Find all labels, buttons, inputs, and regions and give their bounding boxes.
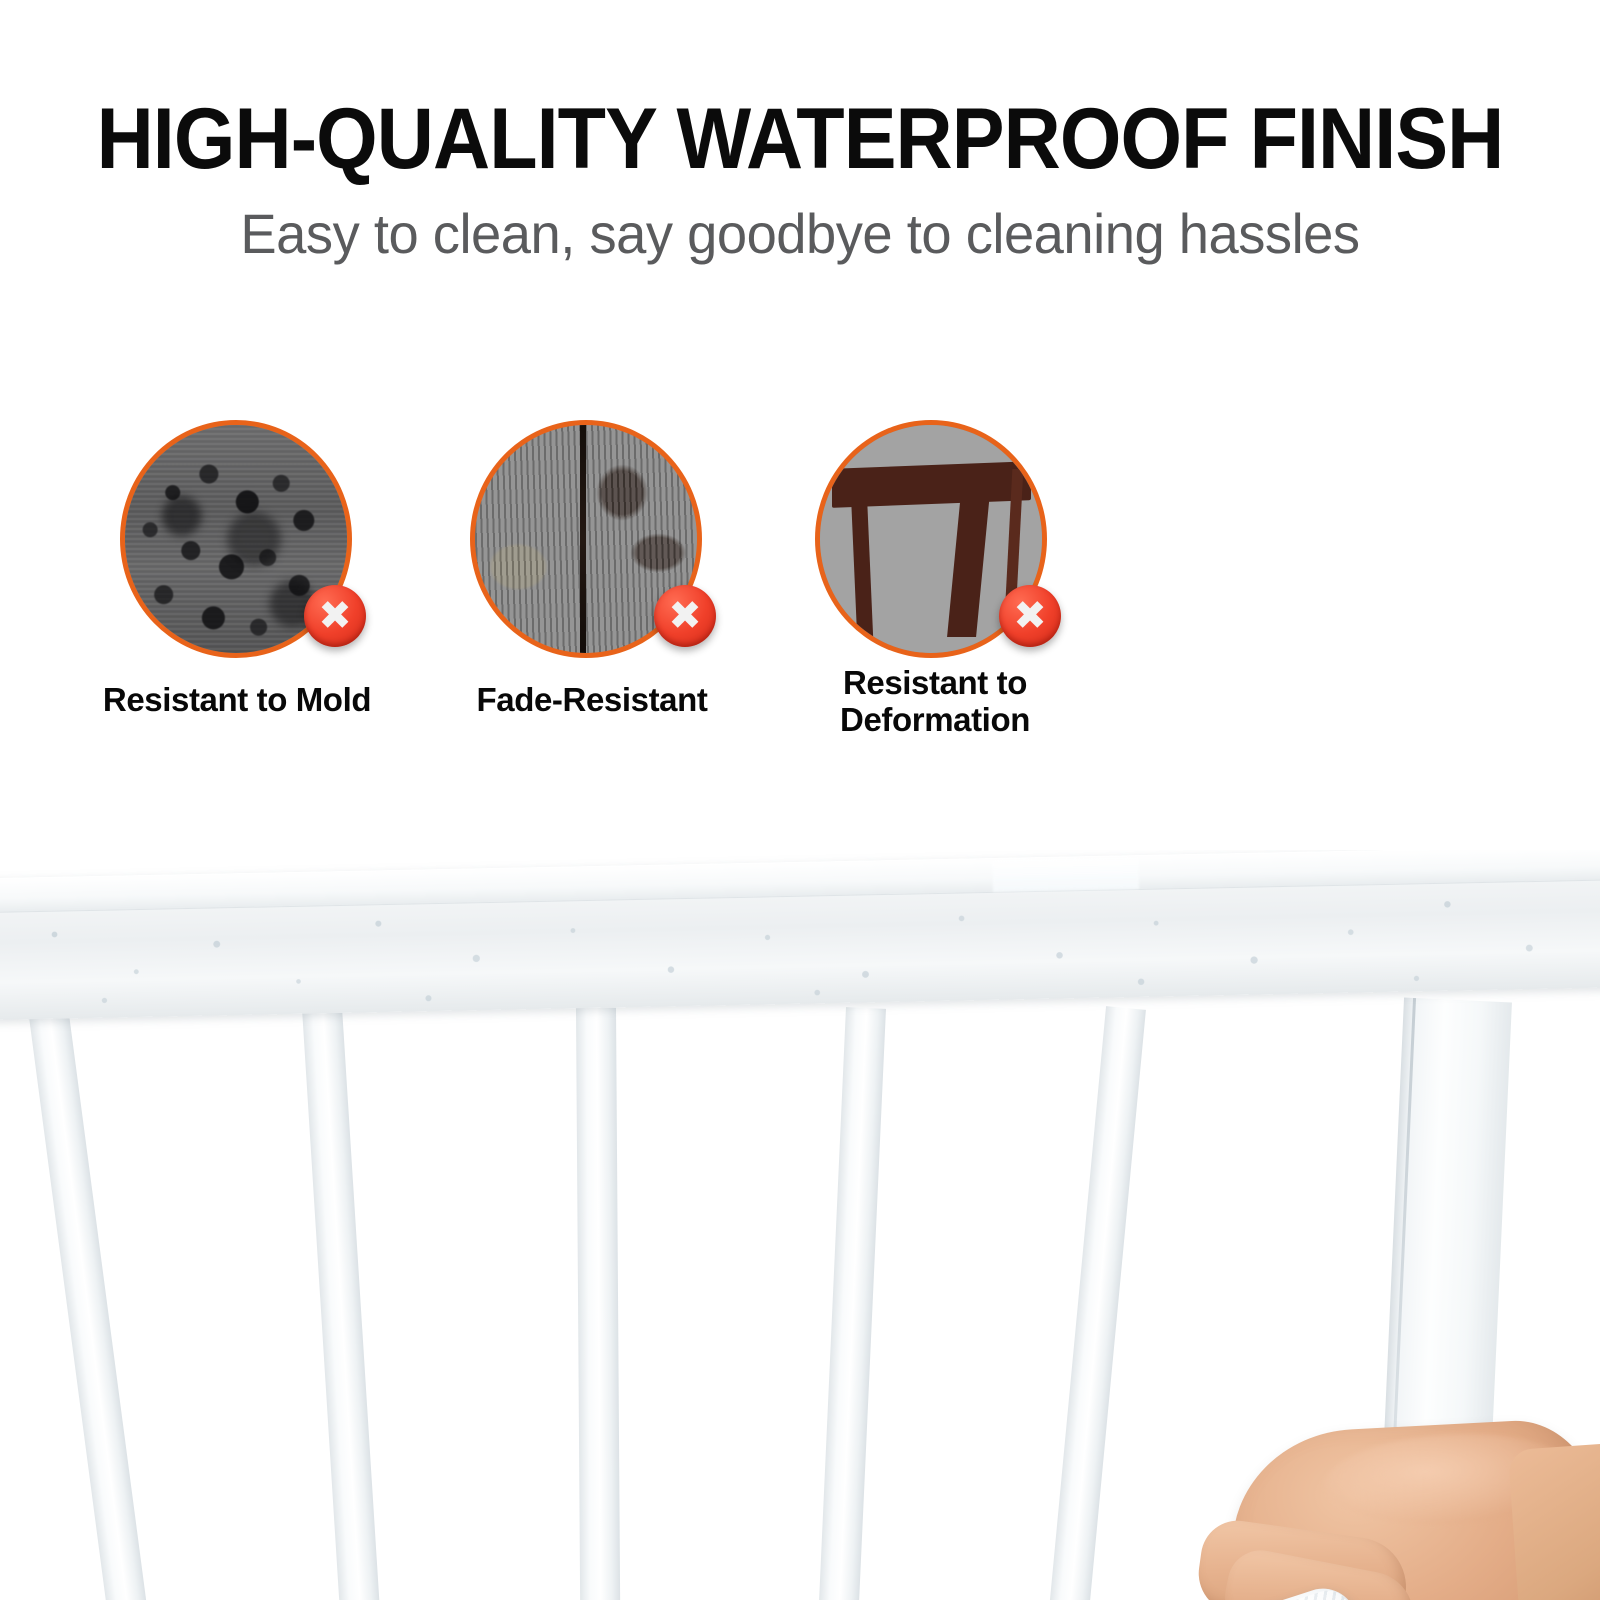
feature-item-mold: ✖ Resistant to Mold (120, 400, 360, 645)
feature-item-fade: ✖ Fade-Resistant (470, 400, 710, 645)
page-title: HIGH-QUALITY WATERPROOF FINISH (64, 96, 1536, 182)
baluster (1050, 1006, 1146, 1600)
x-mark-badge: ✖ (999, 585, 1061, 647)
top-rail (0, 850, 1600, 1020)
feature-image-wrap: ✖ (470, 400, 710, 645)
feature-list: ✖ Resistant to Mold ✖ Fade-Resistant (0, 400, 1100, 770)
feature-label-line-1: Resistant to (785, 665, 1085, 702)
wiped-clean-streak (993, 857, 1139, 892)
x-mark-badge: ✖ (304, 585, 366, 647)
feature-label-mold: Resistant to Mold (87, 682, 387, 719)
baluster (302, 1007, 380, 1600)
page-subtitle: Easy to clean, say goodbye to cleaning h… (24, 205, 1576, 264)
feature-item-deformation: ✖ Resistant to Deformation (815, 400, 1055, 645)
product-photo: VEVOR® TOUGH TOOLS, HALF PRICE Technical… (0, 850, 1600, 1600)
hand-with-cloth (1185, 1412, 1600, 1600)
feature-label-deformation: Resistant to Deformation (785, 665, 1085, 739)
feature-image-wrap: ✖ (815, 400, 1055, 645)
frame-right-stile (947, 493, 990, 637)
baluster (576, 1008, 620, 1600)
baluster (28, 1005, 146, 1600)
promo-image-canvas: HIGH-QUALITY WATERPROOF FINISH Easy to c… (0, 0, 1600, 1600)
feature-label-line-2: Deformation (785, 702, 1085, 739)
baluster (819, 1007, 886, 1600)
feature-label-fade: Fade-Resistant (442, 682, 742, 719)
x-mark-icon: ✖ (304, 585, 366, 647)
x-mark-icon: ✖ (999, 585, 1061, 647)
x-mark-badge: ✖ (654, 585, 716, 647)
frame-left-stile (851, 493, 873, 637)
x-mark-icon: ✖ (654, 585, 716, 647)
wrist (1508, 1442, 1600, 1600)
feature-image-wrap: ✖ (120, 400, 360, 645)
